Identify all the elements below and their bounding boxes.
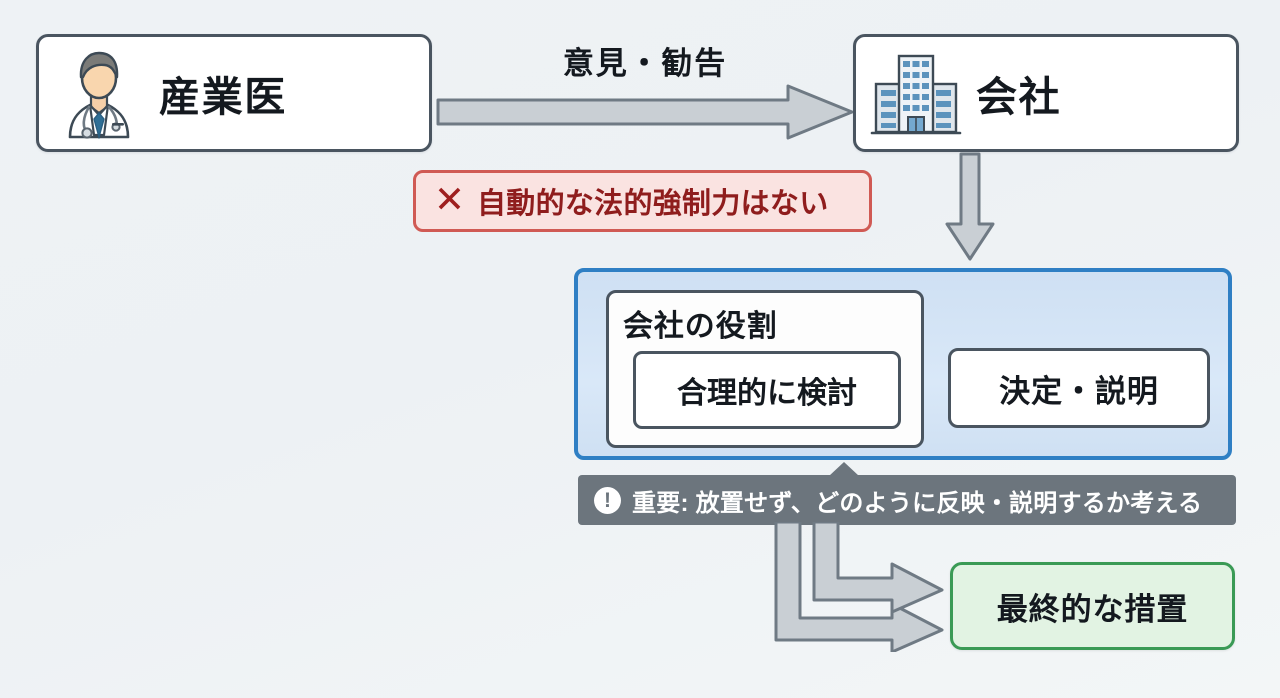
node-final-measure[interactable]: 最終的な措置: [950, 562, 1235, 650]
important-note-bar: ! 重要: 放置せず、どのように反映・説明するか考える: [578, 475, 1236, 525]
diagram-canvas: 産業医 意見・勧告: [0, 0, 1280, 698]
box-company-role: 会社の役割 合理的に検討: [606, 290, 924, 448]
node-company[interactable]: 会社: [853, 34, 1239, 152]
node-label: 会社: [976, 63, 1061, 123]
right-arrow-icon: [436, 84, 854, 140]
node-occupational-physician[interactable]: 産業医: [36, 34, 432, 152]
node-label: 産業医: [159, 63, 287, 123]
cross-mark-icon: ✕: [434, 181, 465, 218]
box-decide-explain[interactable]: 決定・説明: [948, 348, 1210, 428]
office-building-icon: [856, 37, 976, 149]
box-company-role-title: 会社の役割: [623, 301, 907, 345]
doctor-icon: [39, 37, 159, 149]
node-label: 最終的な措置: [997, 584, 1189, 629]
important-note-text: 重要: 放置せず、どのように反映・説明するか考える: [632, 483, 1202, 518]
warning-text: 自動的な法的強制力はない: [477, 180, 828, 222]
box-rational-review-label: 合理的に検討: [677, 368, 857, 412]
box-decide-explain-label: 決定・説明: [999, 366, 1159, 411]
arrow-label-opinion: 意見・勧告: [436, 38, 854, 83]
box-rational-review[interactable]: 合理的に検討: [633, 351, 901, 429]
panel-company-role: 会社の役割 合理的に検討 決定・説明: [574, 268, 1232, 460]
warning-no-legal-force: ✕ 自動的な法的強制力はない: [413, 170, 872, 232]
exclamation-circle-icon: !: [594, 487, 621, 514]
down-arrow-icon: [944, 152, 996, 262]
